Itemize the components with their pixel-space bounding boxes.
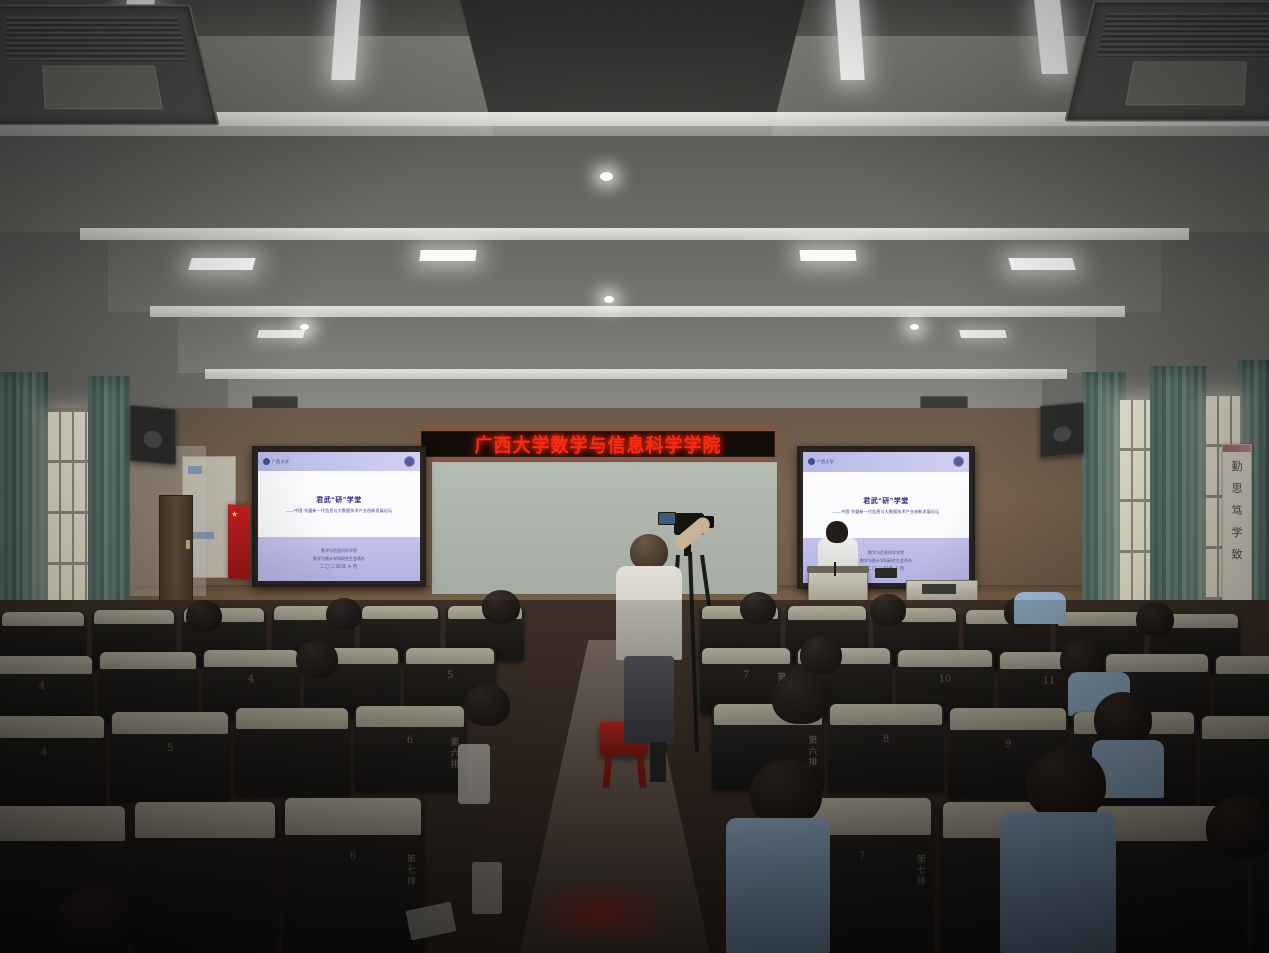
stage-laptop — [875, 568, 897, 578]
audience-head-r5a — [296, 640, 338, 678]
seat-r6-l1[interactable]: 4 — [0, 716, 106, 808]
university-seal-icon-right — [953, 456, 964, 467]
audience-head-r6b — [1094, 692, 1152, 746]
ceiling-light-panel-5 — [188, 258, 255, 270]
exit-sign-floor-reflection — [528, 880, 678, 946]
seat-headrest — [0, 716, 104, 738]
door-handle-left[interactable] — [186, 540, 190, 549]
seat-number: 5 — [447, 670, 453, 681]
led-banner: 广西大学数学与信息科学学院 — [421, 431, 775, 457]
seat-number: 4 — [39, 681, 45, 692]
row-label: 第六排 — [805, 735, 818, 768]
seat-number: 7 — [859, 851, 865, 862]
ceiling-rail-2 — [80, 228, 1189, 240]
row-label: 第七排 — [404, 854, 417, 887]
row-label: 第七排 — [914, 854, 927, 887]
slide-org-line-2-right: 数学与统计学科研究生会承办 — [860, 558, 912, 564]
seat-headrest — [135, 802, 275, 838]
audience-head-f2 — [326, 598, 362, 630]
slide-date: 二〇二四年十月 — [320, 564, 359, 570]
slide-subtitle-right: ——中国·东盟新一代信息与大数据技术产业创新发展论坛 — [833, 509, 940, 515]
seat-r6-r2[interactable]: 8 — [828, 704, 944, 792]
seat-headrest — [950, 708, 1065, 730]
logo-dot-icon-right — [808, 458, 815, 465]
stage-backdrop-panel — [431, 461, 778, 595]
camera-operator-leg — [650, 742, 666, 782]
audience-shirt-r7a — [726, 818, 830, 953]
audience-head-r8a — [56, 886, 142, 953]
shoe-item — [472, 862, 502, 914]
ceiling-ac-unit-left — [0, 5, 220, 126]
seat-number: 9 — [1005, 739, 1011, 750]
seat-r6-l2[interactable]: 5 — [110, 712, 230, 802]
seat-number: 6 — [407, 735, 413, 746]
slide-footer-left: 数学与信息科学学院 数学与统计学科研究生会承办 二〇二四年十月 — [258, 537, 420, 581]
ac-center-right — [1125, 62, 1247, 106]
logo-text-right: 广西大学 — [817, 459, 834, 465]
ceiling-band-3 — [108, 240, 1161, 312]
seat-headrest — [0, 656, 92, 674]
scroll-char-4: 致 — [1232, 546, 1243, 562]
audience-head-f3 — [482, 590, 520, 624]
audience-shirt-r7b — [1000, 812, 1116, 953]
seat-headrest — [406, 648, 494, 664]
seat-number: 7 — [743, 670, 749, 681]
university-logo-icon: 广西大学 — [263, 458, 289, 465]
seat-headrest — [1202, 716, 1269, 739]
seat-headrest — [2, 612, 85, 626]
scroll-top-band — [1223, 445, 1251, 452]
seat-r7-l3[interactable]: 6 第七排 — [282, 798, 424, 953]
seat-headrest — [112, 712, 227, 734]
audience-head-r5b — [800, 636, 842, 674]
downlight-3 — [300, 324, 309, 330]
ceiling-band-4 — [178, 317, 1096, 373]
presenter-head — [826, 521, 848, 543]
wall-speaker-right — [1040, 402, 1084, 458]
scroll-characters: 勤 思 笃 学 致 — [1229, 458, 1245, 614]
seat-headrest — [830, 704, 941, 725]
seat-headrest — [788, 606, 867, 620]
seat-headrest — [1216, 656, 1269, 674]
scroll-char-1: 思 — [1232, 480, 1243, 496]
ceiling-light-panel-7 — [799, 250, 856, 261]
seat-number: 8 — [883, 734, 889, 745]
camera-operator-shirt — [616, 566, 682, 660]
audience-head-f7 — [1136, 602, 1174, 636]
seat-r6-l4[interactable]: 6 第六排 — [354, 706, 466, 792]
seat-number: 11 — [1043, 676, 1056, 687]
ac-grill-right — [1097, 13, 1269, 57]
left-slide: 广西大学 君武“研”学堂 ——中国·东盟新一代信息与大数据技术产业创新发展论坛 … — [258, 452, 420, 581]
ceiling-ac-unit-right — [1064, 1, 1269, 122]
slide-org-line-2: 数学与统计学科研究生会承办 — [313, 556, 365, 562]
seat-headrest — [362, 606, 439, 619]
audience-head-f4 — [740, 592, 776, 624]
camera-monitor-screen — [658, 512, 676, 525]
seat-number: 4 — [248, 674, 254, 685]
slide-title: 君武“研”学堂 — [316, 495, 362, 505]
slide-title-right: 君武“研”学堂 — [863, 496, 909, 506]
seat-number: 5 — [167, 743, 173, 754]
seat-number: 10 — [939, 674, 952, 685]
seat-r7-l2[interactable] — [132, 802, 278, 953]
seat-number: 4 — [41, 747, 47, 758]
camera-operator-head — [630, 534, 668, 570]
university-logo-icon-right: 广西大学 — [808, 458, 834, 465]
university-seal-icon — [404, 456, 415, 467]
seat-number: 6 — [350, 851, 356, 862]
flag-star-icon: ★ — [231, 509, 238, 519]
scroll-char-2: 笃 — [1232, 502, 1243, 518]
lectern-top — [807, 566, 870, 573]
slide-subtitle: ——中国·东盟新一代信息与大数据技术产业创新发展论坛 — [286, 508, 393, 514]
seat-headrest — [898, 650, 992, 667]
audience-head-r6a — [772, 672, 830, 724]
audience-head-r7a — [750, 760, 822, 826]
ceiling-rail-1b — [0, 126, 1269, 136]
seat-headrest — [356, 706, 464, 727]
seat-headrest — [702, 648, 790, 664]
ceiling-light-panel-10 — [959, 330, 1007, 338]
downlight-1 — [600, 172, 613, 181]
ceiling-light-panel-8 — [1008, 258, 1075, 270]
scroll-char-0: 勤 — [1232, 458, 1243, 474]
poster-mark-1 — [188, 466, 202, 474]
ceiling-rail-3 — [150, 306, 1125, 317]
audience-head-r6c — [464, 684, 510, 726]
audience-head-f1 — [186, 600, 222, 632]
speaker-cone-left — [144, 430, 162, 448]
seat-headrest — [285, 798, 421, 835]
podium-microphone-icon — [834, 562, 836, 576]
seat-headrest — [1058, 612, 1142, 626]
slide-header-left: 广西大学 — [258, 452, 420, 471]
slide-body-left: 君武“研”学堂 ——中国·东盟新一代信息与大数据技术产业创新发展论坛 — [258, 471, 420, 537]
slide-header-right: 广西大学 — [803, 452, 969, 472]
seat-headrest — [236, 708, 347, 729]
left-projector-screen[interactable]: 广西大学 君武“研”学堂 ——中国·东盟新一代信息与大数据技术产业创新发展论坛 … — [252, 446, 426, 587]
ceiling-light-panel-9 — [257, 330, 305, 338]
slide-org-line-1: 数学与信息科学学院 — [321, 548, 357, 554]
slide-org-line-1-right: 数学与信息科学学院 — [868, 550, 904, 556]
speaker-cone-right — [1053, 426, 1071, 443]
lecture-hall-photo: 广西大学数学与信息科学学院 广西大学 君武“研”学堂 ——中国·东盟新一代信息与… — [0, 0, 1269, 953]
window-left-1 — [48, 412, 92, 632]
wall-speaker-left — [130, 405, 176, 465]
seat-headrest — [204, 650, 298, 667]
ac-grill-left — [6, 17, 187, 61]
camera-operator-trousers — [624, 656, 674, 744]
bag-on-seat — [458, 744, 490, 804]
seat-headrest — [0, 806, 125, 841]
ceiling-light-panel-6 — [419, 250, 476, 261]
window-bars-left-1 — [48, 412, 92, 632]
seat-headrest — [100, 652, 196, 669]
led-banner-text: 广西大学数学与信息科学学院 — [475, 431, 722, 457]
audience-shirt-f6 — [1014, 592, 1066, 624]
chinese-national-flag: ★ — [228, 504, 250, 580]
ceiling — [0, 0, 1269, 430]
downlight-2 — [604, 296, 614, 303]
scroll-char-3: 学 — [1232, 524, 1243, 540]
audience-head-r7b — [1026, 748, 1106, 820]
logo-text: 广西大学 — [272, 459, 289, 465]
seat-r6-l3[interactable] — [234, 708, 350, 796]
seat-headrest — [94, 610, 175, 624]
ceiling-rail-4 — [205, 369, 1067, 379]
ac-center-left — [43, 66, 163, 110]
ceiling-band-2 — [0, 136, 1269, 232]
audience-head-r7c — [1206, 796, 1269, 860]
downlight-4 — [910, 324, 919, 330]
logo-dot-icon — [263, 458, 270, 465]
audience-head-f5 — [870, 594, 906, 626]
seat-headrest — [1106, 654, 1208, 672]
stage-equipment-box — [922, 584, 956, 594]
